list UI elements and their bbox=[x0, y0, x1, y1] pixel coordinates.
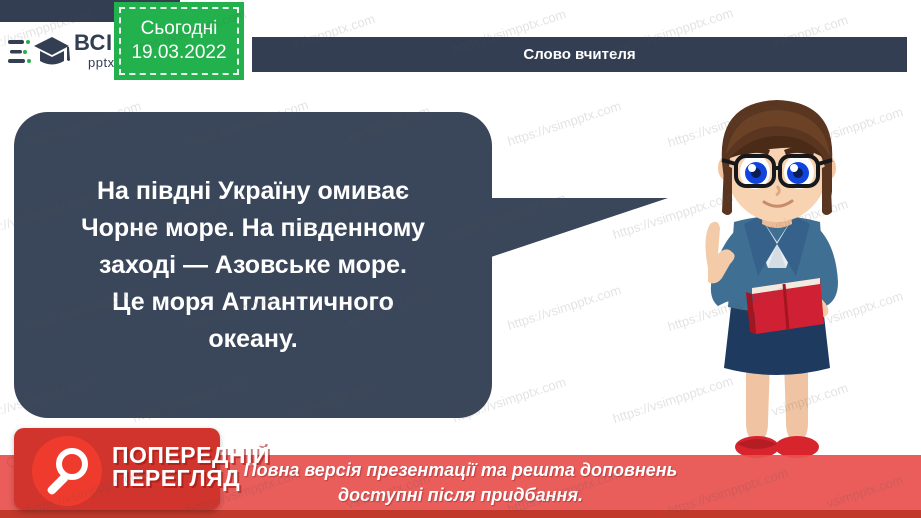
date-tag: Сьогодні 19.03.2022 bbox=[114, 2, 244, 80]
magnifier-icon bbox=[32, 436, 102, 506]
speech-bubble: На півдні Україну омиває Чорне море. На … bbox=[14, 112, 492, 418]
presentation-slide: ВСІМ pptx Сьогодні 19.03.2022 Слово вчит… bbox=[0, 0, 921, 518]
slide-header-bar: Слово вчителя bbox=[252, 37, 907, 72]
watermark-text: https://vsimpptx.com bbox=[506, 282, 623, 333]
teacher-character bbox=[634, 92, 919, 470]
date-tag-value: 19.03.2022 bbox=[131, 41, 226, 65]
banner-bottom-strip bbox=[0, 510, 921, 518]
preview-badge-line2: ПЕРЕГЛЯД bbox=[112, 467, 270, 490]
hidden-slide-text-line1: п bbox=[6, 430, 13, 450]
preview-badge[interactable]: ПОПЕРЕДНІЙ ПЕРЕГЛЯД bbox=[14, 428, 220, 510]
site-logo[interactable]: ВСІМ pptx bbox=[8, 28, 131, 72]
preview-badge-line1: ПОПЕРЕДНІЙ bbox=[112, 444, 270, 467]
graduation-cap-icon bbox=[8, 28, 70, 72]
watermark-text: https://vsimpptx.com bbox=[506, 98, 623, 149]
date-tag-label: Сьогодні bbox=[141, 17, 218, 41]
purchase-banner-text: Повна версія презентації та решта доповн… bbox=[244, 458, 678, 507]
page-title: Слово вчителя bbox=[523, 46, 635, 63]
speech-bubble-text: На півдні Україну омиває Чорне море. На … bbox=[55, 173, 451, 358]
